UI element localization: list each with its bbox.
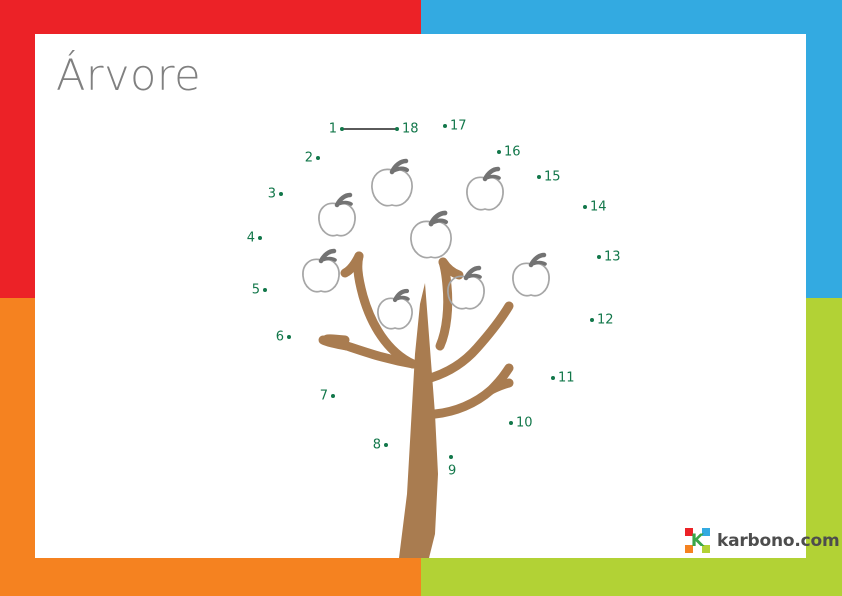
dot-16[interactable] bbox=[497, 150, 501, 154]
dot-18[interactable] bbox=[395, 127, 399, 131]
dot-7[interactable] bbox=[331, 394, 335, 398]
dot-label-12: 12 bbox=[597, 314, 614, 327]
dot-label-1: 1 bbox=[329, 123, 337, 136]
dot-label-16: 16 bbox=[504, 146, 521, 159]
apple-icon bbox=[372, 161, 412, 206]
dot-8[interactable] bbox=[384, 443, 388, 447]
apple-icon bbox=[411, 213, 451, 258]
tree-branch-left bbox=[323, 256, 413, 364]
dot-label-11: 11 bbox=[558, 372, 575, 385]
apple-icon bbox=[467, 169, 503, 210]
tree-illustration bbox=[35, 34, 806, 558]
karbono-logo-mark: K bbox=[685, 528, 710, 553]
dot-label-4: 4 bbox=[247, 232, 255, 245]
logo-text: karbono.com bbox=[717, 531, 840, 551]
dot-label-5: 5 bbox=[252, 284, 260, 297]
dot-label-14: 14 bbox=[590, 201, 607, 214]
apple-icon bbox=[303, 251, 339, 292]
dot-label-8: 8 bbox=[373, 439, 381, 452]
dot-1[interactable] bbox=[340, 127, 344, 131]
dot-12[interactable] bbox=[590, 318, 594, 322]
dot-label-15: 15 bbox=[544, 171, 561, 184]
dot-label-2: 2 bbox=[305, 152, 313, 165]
karbono-logo[interactable]: K karbono.com bbox=[685, 528, 840, 553]
dot-label-6: 6 bbox=[276, 331, 284, 344]
dot-label-10: 10 bbox=[516, 417, 533, 430]
dot-11[interactable] bbox=[551, 376, 555, 380]
apple-icon bbox=[319, 195, 355, 236]
tree-trunk bbox=[399, 283, 438, 558]
dot-6[interactable] bbox=[287, 335, 291, 339]
dot-10[interactable] bbox=[509, 421, 513, 425]
apple-icon bbox=[513, 255, 549, 296]
dot-label-3: 3 bbox=[268, 188, 276, 201]
dot-9[interactable] bbox=[449, 455, 453, 459]
logo-letter-k: K bbox=[685, 528, 710, 553]
dot-label-13: 13 bbox=[604, 251, 621, 264]
worksheet-page: Árvore bbox=[0, 0, 842, 596]
dot-15[interactable] bbox=[537, 175, 541, 179]
dot-14[interactable] bbox=[583, 205, 587, 209]
dot-13[interactable] bbox=[597, 255, 601, 259]
dot-label-18: 18 bbox=[402, 123, 419, 136]
worksheet-card: Árvore bbox=[35, 34, 806, 558]
apple-icon bbox=[378, 291, 412, 329]
dot-2[interactable] bbox=[316, 156, 320, 160]
dot-17[interactable] bbox=[443, 124, 447, 128]
tree-branch-right-upper bbox=[427, 262, 509, 379]
dot-4[interactable] bbox=[258, 236, 262, 240]
dot-3[interactable] bbox=[279, 192, 283, 196]
dot-label-7: 7 bbox=[320, 390, 328, 403]
dot-label-9: 9 bbox=[448, 465, 456, 478]
dot-to-dot-canvas: 123456789101112131415161718 bbox=[35, 34, 806, 558]
dot-label-17: 17 bbox=[450, 120, 467, 133]
dot-5[interactable] bbox=[263, 288, 267, 292]
